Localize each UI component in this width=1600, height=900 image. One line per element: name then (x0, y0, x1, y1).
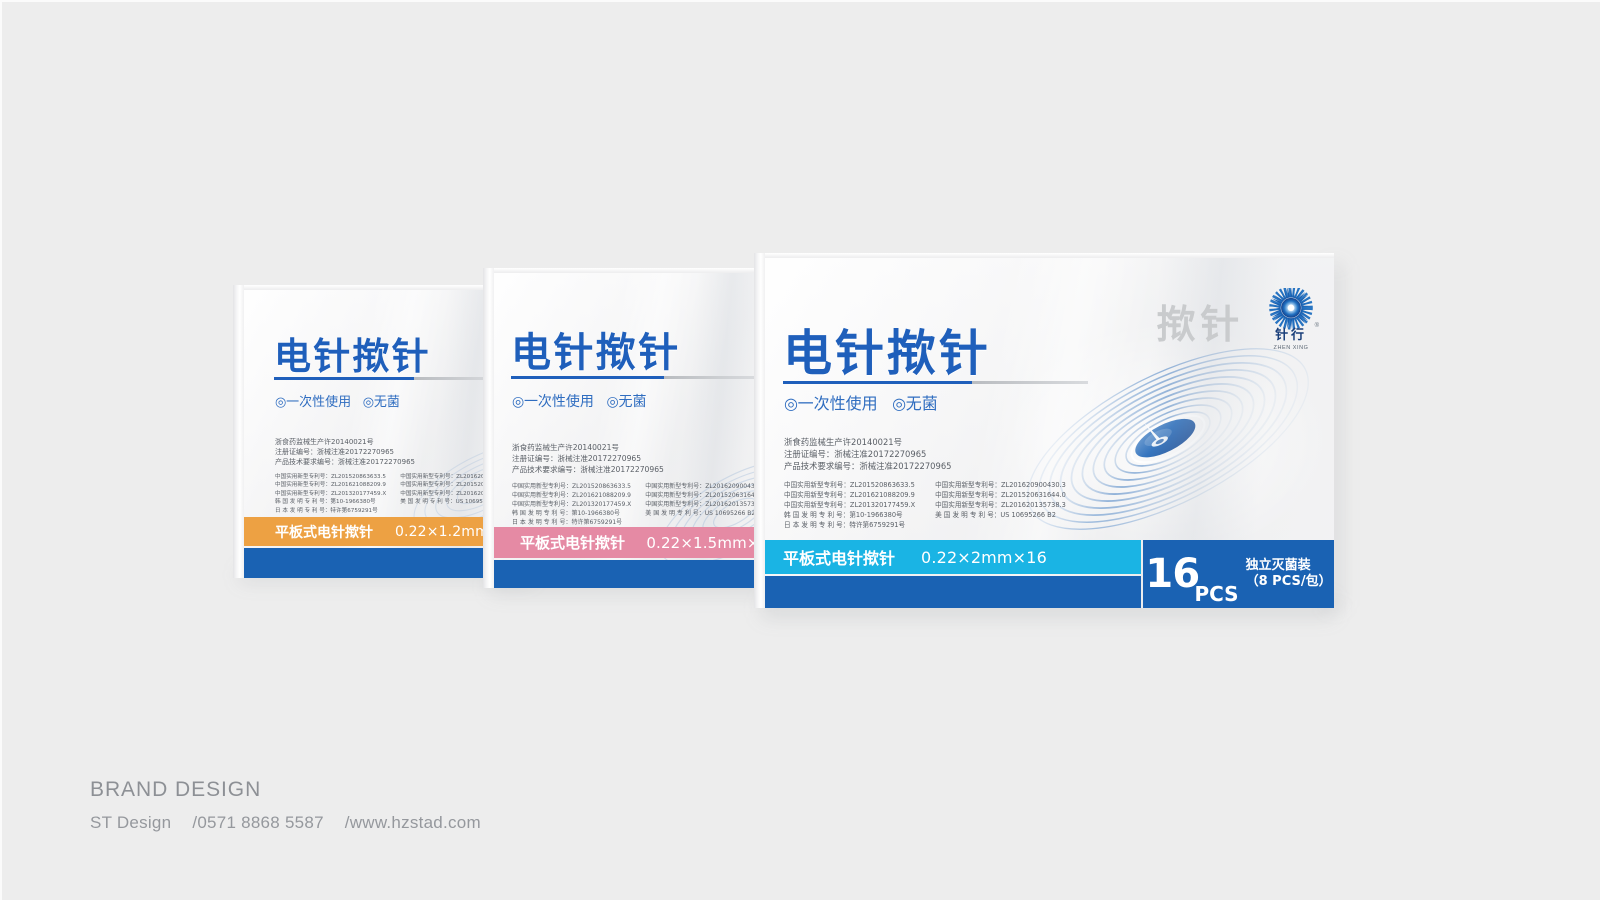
spec-band-middle: 平板式电针揿针 0.22×1.5mm×16 (494, 527, 779, 558)
reg-line-0: 浙食药监械生产许20140021号 (512, 442, 664, 453)
reg-line-0: 浙食药监械生产许20140021号 (275, 437, 415, 447)
claim-label-0: 一次性使用 (286, 395, 351, 410)
claim-label-0: 一次性使用 (524, 394, 594, 410)
patent-line: 美 国 发 明 专 利 号：US 10695266 B2 (935, 511, 1066, 521)
spec-band-front: 平板式电针揿针 0.22×2mm×16 (765, 540, 1141, 574)
footer-headline: BRAND DESIGN (90, 778, 497, 802)
patent-line: 日 本 发 明 专 利 号：特许第6759291号 (512, 518, 631, 527)
base-band-front (765, 576, 1141, 608)
patent-line: 中国实用新型专利号：ZL201520863633.5 (512, 482, 631, 491)
box-title-middle: 电针揿针 (511, 320, 681, 378)
brand-name-en: ZHEN XING (1262, 345, 1320, 351)
reg-line-1: 注册证编号：浙械注准20172270965 (512, 453, 664, 464)
patent-block-middle: 中国实用新型专利号：ZL201520863633.5 中国实用新型专利号：ZL2… (512, 482, 764, 527)
patent-line: 中国实用新型专利号：ZL201520863633.5 (275, 473, 386, 481)
reg-line-0: 浙食药监械生产许20140021号 (784, 436, 952, 448)
patent-block-front: 中国实用新型专利号：ZL201520863633.5 中国实用新型专利号：ZL2… (784, 481, 1066, 530)
footer-credits: BRAND DESIGN ST Design /0571 8868 5587 /… (90, 778, 497, 833)
claim-mark-0: ◎ (784, 394, 798, 413)
patent-line: 中国实用新型专利号：ZL201520863633.5 (784, 481, 915, 491)
spec-band-name: 平板式电针揿针 (275, 522, 373, 542)
patent-column-right: 中国实用新型专利号：ZL201620900430.3 中国实用新型专利号：ZL2… (645, 482, 764, 527)
brand-name-cn: 针行 (1262, 324, 1320, 343)
patent-line: 韩 国 发 明 专 利 号：第10-1966380号 (275, 498, 386, 506)
regulatory-block-left: 浙食药监械生产许20140021号 注册证编号：浙械注准20172270965 … (275, 437, 415, 467)
brand-logo: ® 针行 ZHEN XING (1262, 289, 1320, 351)
box-left-spine (233, 285, 244, 578)
patent-line: 中国实用新型专利号：ZL201620135738.3 (935, 501, 1066, 511)
patent-line: 日 本 发 明 专 利 号：特许第6759291号 (275, 507, 386, 515)
patent-line: 中国实用新型专利号：ZL201620135738.3 (645, 500, 764, 509)
product-box-front[interactable]: 揿针 (754, 253, 1334, 608)
claim-mark-1: ◎ (363, 395, 374, 410)
claims-row-middle: ◎一次性使用◎无菌 (512, 391, 646, 411)
pack-note: （8 PCS/包） (1246, 574, 1332, 590)
regulatory-block-middle: 浙食药监械生产许20140021号 注册证编号：浙械注准20172270965 … (512, 442, 664, 475)
claim-mark-1: ◎ (892, 394, 906, 413)
box-left-spine (754, 253, 765, 608)
box-title-front: 电针揿针 (783, 314, 991, 385)
patent-line: 中国实用新型专利号：ZL201520631644.0 (645, 491, 764, 500)
title-underline-middle (511, 376, 758, 379)
patent-line: 韩 国 发 明 专 利 号：第10-1966380号 (512, 509, 631, 518)
sterile-note: 独立灭菌装 (1246, 558, 1332, 574)
claim-label-1: 无菌 (374, 395, 400, 410)
reg-line-2: 产品技术要求编号：浙械注准20172270965 (512, 464, 664, 475)
patent-line: 中国实用新型专利号：ZL201621088209.9 (512, 491, 631, 500)
patent-line: 中国实用新型专利号：ZL201621088209.9 (784, 491, 915, 501)
patent-block-left: 中国实用新型专利号：ZL201520863633.5 中国实用新型专利号：ZL2… (275, 473, 511, 515)
patent-column-left: 中国实用新型专利号：ZL201520863633.5 中国实用新型专利号：ZL2… (784, 481, 915, 530)
title-underline-left (274, 377, 500, 380)
footer-phone: /0571 8868 5587 (192, 813, 323, 832)
patent-column-right: 中国实用新型专利号：ZL201620900430.3 中国实用新型专利号：ZL2… (935, 481, 1066, 530)
reg-line-1: 注册证编号：浙械注准20172270965 (784, 448, 952, 460)
claim-mark-0: ◎ (275, 395, 286, 410)
pcs-unit: PCS (1194, 582, 1238, 608)
reg-line-2: 产品技术要求编号：浙械注准20172270965 (275, 457, 415, 467)
regulatory-block-front: 浙食药监械生产许20140021号 注册证编号：浙械注准20172270965 … (784, 436, 952, 473)
patent-line: 中国实用新型专利号：ZL201621088209.9 (275, 481, 386, 489)
patent-line: 美 国 发 明 专 利 号：US 10695266 B2 (645, 509, 764, 518)
watermark-text: 揿针 (1157, 294, 1244, 350)
box-left-spine (483, 268, 494, 588)
box-top-edge (483, 268, 779, 273)
pcs-panel: 16 PCS 独立灭菌装 （8 PCS/包） (1143, 540, 1334, 608)
pcs-notes: 独立灭菌装 （8 PCS/包） (1246, 558, 1332, 590)
patent-line: 中国实用新型专利号：ZL201320177459.X (275, 490, 386, 498)
footer-website[interactable]: /www.hzstad.com (345, 813, 481, 832)
patent-line: 中国实用新型专利号：ZL201520631644.0 (935, 491, 1066, 501)
spec-band-name: 平板式电针揿针 (783, 545, 895, 569)
claims-row-left: ◎一次性使用◎无菌 (275, 391, 400, 410)
claim-mark-1: ◎ (607, 394, 619, 410)
spec-band-name: 平板式电针揿针 (520, 532, 625, 553)
box-top-edge (754, 253, 1334, 258)
design-mockup-canvas: 电针揿针 ◎一次性使用◎无菌 浙食药监械生产许20140021号 注册证编号：浙… (0, 0, 1600, 900)
patent-line: 中国实用新型专利号：ZL201620900430.3 (935, 481, 1066, 491)
footer-studio: ST Design (90, 813, 171, 832)
claim-label-0: 一次性使用 (798, 394, 878, 413)
spec-band-size: 0.22×2mm×16 (921, 548, 1047, 567)
patent-column-left: 中国实用新型专利号：ZL201520863633.5 中国实用新型专利号：ZL2… (275, 473, 386, 515)
base-band-middle (494, 560, 779, 588)
box-title-left: 电针揿针 (274, 326, 431, 380)
claim-label-1: 无菌 (906, 394, 938, 413)
claim-label-1: 无菌 (618, 394, 646, 410)
product-box-middle[interactable]: 电针揿针 ◎一次性使用◎无菌 浙食药监械生产许20140021号 注册证编号：浙… (483, 268, 779, 588)
title-underline-front (783, 381, 1088, 384)
claims-row-front: ◎一次性使用◎无菌 (784, 390, 938, 414)
pcs-count: 16 (1145, 556, 1199, 592)
patent-line: 韩 国 发 明 专 利 号：第10-1966380号 (784, 511, 915, 521)
patent-line: 中国实用新型专利号：ZL201620900430.3 (645, 482, 764, 491)
claim-mark-0: ◎ (512, 394, 524, 410)
patent-line: 日 本 发 明 专 利 号：特许第6759291号 (784, 521, 915, 531)
patent-column-left: 中国实用新型专利号：ZL201520863633.5 中国实用新型专利号：ZL2… (512, 482, 631, 527)
patent-line: 中国实用新型专利号：ZL201320177459.X (512, 500, 631, 509)
reg-line-1: 注册证编号：浙械注准20172270965 (275, 447, 415, 457)
reg-line-2: 产品技术要求编号：浙械注准20172270965 (784, 460, 952, 472)
patent-line: 中国实用新型专利号：ZL201320177459.X (784, 501, 915, 511)
footer-contact: ST Design /0571 8868 5587 /www.hzstad.co… (90, 813, 497, 833)
